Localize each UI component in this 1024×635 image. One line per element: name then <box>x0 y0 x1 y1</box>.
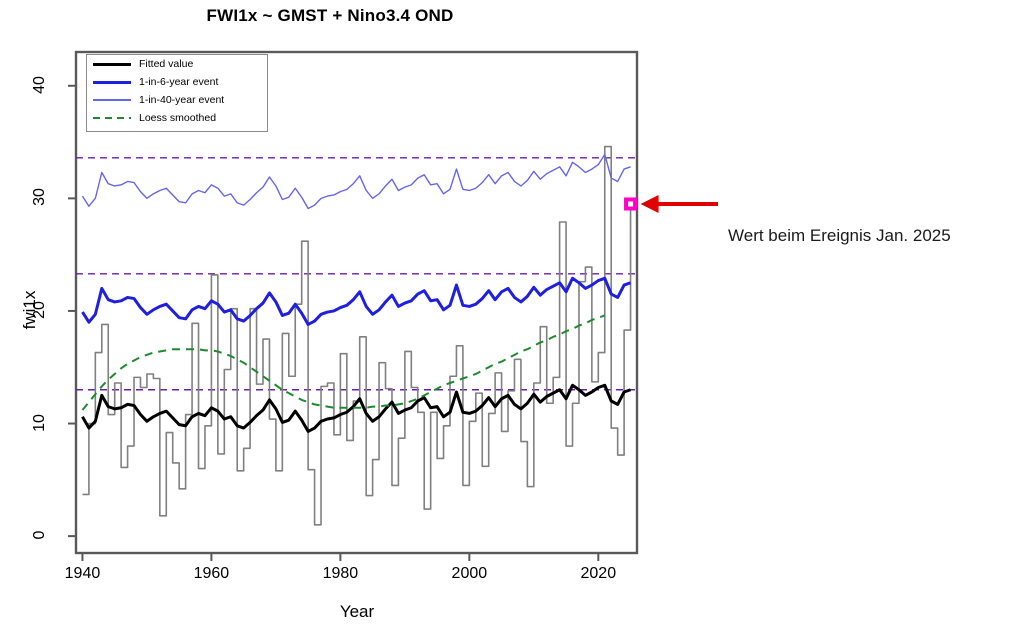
legend-item-1: 1-in-6-year event <box>87 73 267 91</box>
series-1-in-6-year-event <box>82 278 630 324</box>
y-tick-label-30: 30 <box>31 177 49 217</box>
legend-label: 1-in-40-year event <box>139 95 224 106</box>
x-tick-label-1980: 1980 <box>310 565 370 583</box>
legend-label: Fitted value <box>139 59 193 70</box>
legend-item-2: 1-in-40-year event <box>87 91 267 109</box>
legend-swatch-icon <box>93 99 131 100</box>
series-1-in-40-year-event <box>82 154 630 208</box>
annotation-label: Wert beim Ereignis Jan. 2025 <box>728 226 951 246</box>
legend-swatch-icon <box>93 63 131 66</box>
event-marker-center <box>628 201 633 206</box>
annotation-arrow-head <box>641 195 659 213</box>
legend-label: Loess smoothed <box>139 113 216 124</box>
y-tick-label-10: 10 <box>31 403 49 443</box>
legend-item-3: Loess smoothed <box>87 109 267 127</box>
series-observed-fwi1x <box>82 147 630 525</box>
y-tick-label-0: 0 <box>31 515 49 555</box>
y-tick-label-20: 20 <box>31 290 49 330</box>
chart-legend: Fitted value1-in-6-year event1-in-40-yea… <box>86 54 268 132</box>
legend-swatch-icon <box>93 81 131 84</box>
legend-swatch-icon <box>93 117 131 119</box>
x-tick-label-2020: 2020 <box>568 565 628 583</box>
y-tick-label-40: 40 <box>31 65 49 105</box>
legend-item-0: Fitted value <box>87 55 267 73</box>
legend-label: 1-in-6-year event <box>139 77 218 88</box>
x-tick-label-1940: 1940 <box>52 565 112 583</box>
chart-page: FWI1x ~ GMST + Nino3.4 OND fwi1x Year Fi… <box>0 0 1024 635</box>
series-loess-smoothed <box>82 315 604 410</box>
x-tick-label-2000: 2000 <box>439 565 499 583</box>
x-tick-label-1960: 1960 <box>181 565 241 583</box>
